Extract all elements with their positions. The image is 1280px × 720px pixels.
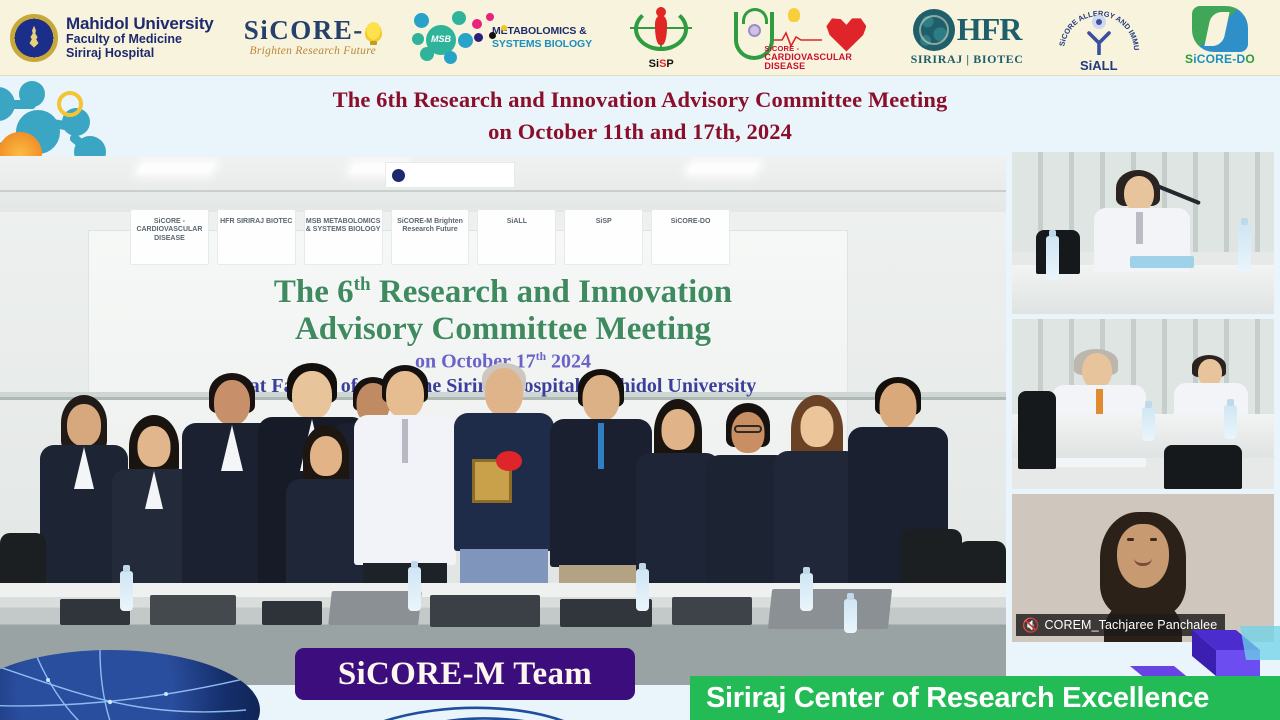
mic-muted-icon: 🔇 bbox=[1022, 618, 1040, 632]
person-figure-icon bbox=[655, 15, 667, 45]
wall-logo-msb: MSB METABOLOMICS & SYSTEMS BIOLOGY bbox=[304, 209, 383, 265]
cell-icon bbox=[1092, 15, 1106, 29]
siall-label: SiALL bbox=[1054, 58, 1144, 73]
lightbulb-icon bbox=[788, 8, 800, 22]
av-equipment bbox=[430, 595, 540, 627]
mahidol-line3: Siriraj Hospital bbox=[66, 47, 214, 61]
water-bottle bbox=[408, 567, 421, 611]
mahidol-seal-icon bbox=[10, 14, 58, 62]
wall-banner-mahidol bbox=[385, 162, 515, 188]
right-photo-column: 🔇 COREM_Tachjaree Panchalee bbox=[1012, 152, 1274, 642]
page-title: The 6th Research and Innovation Advisory… bbox=[0, 76, 1280, 156]
wall-logo-sicoredo: SiCORE-DO bbox=[651, 209, 730, 265]
logo-hfr-siriraj-biotec: HFR SIRIRAJ | BIOTEC bbox=[911, 0, 1024, 75]
sicoredo-label-d: O bbox=[1245, 52, 1255, 66]
logo-siall-allergy-immunology: SiCORE ALLERGY AND IMMUNOLOGY SiALL bbox=[1054, 0, 1144, 75]
av-equipment bbox=[262, 601, 322, 625]
speaker-at-microphone-photo bbox=[1012, 152, 1274, 314]
sicore-do-mark-icon bbox=[1192, 6, 1248, 52]
wall-logo-strip: SiCORE - CARDIOVASCULAR DISEASE HFR SIRI… bbox=[130, 201, 730, 265]
water-bottle bbox=[636, 569, 649, 611]
sicoredo-label-c: CORE-D bbox=[1197, 52, 1246, 66]
sicorem-tagline: Brighten Research Future bbox=[244, 46, 382, 58]
av-equipment bbox=[150, 595, 236, 625]
antibody-icon bbox=[1086, 31, 1112, 55]
sicoredo-label-a: S bbox=[1185, 52, 1193, 66]
wall-logo-cardio: SiCORE - CARDIOVASCULAR DISEASE bbox=[130, 209, 209, 265]
sicorem-wordmark: SiCORE- bbox=[244, 15, 364, 45]
cardio-line2: CARDIOVASCULAR DISEASE bbox=[764, 53, 880, 72]
participant-video-frame bbox=[1100, 512, 1186, 620]
video-call-participant-tile[interactable]: 🔇 COREM_Tachjaree Panchalee bbox=[1012, 494, 1274, 642]
water-bottle bbox=[120, 571, 133, 611]
logo-sicore-cardiovascular: SiCORE - CARDIOVASCULAR DISEASE bbox=[730, 0, 880, 75]
av-equipment bbox=[672, 597, 752, 625]
globe-icon bbox=[913, 9, 955, 51]
senior-doctors-seated-photo bbox=[1012, 319, 1274, 489]
sisp-label-c: P bbox=[666, 58, 673, 70]
hfr-letters: HFR bbox=[957, 15, 1022, 44]
green-banner-label: Siriraj Center of Research Excellence bbox=[706, 682, 1209, 715]
wall-logo-hfr: HFR SIRIRAJ BIOTEC bbox=[217, 209, 296, 265]
water-bottle bbox=[800, 573, 813, 611]
team-badge-label: SiCORE-M Team bbox=[338, 656, 592, 693]
title-line2: on October 11th and 17th, 2024 bbox=[0, 116, 1280, 148]
team-badge: SiCORE-M Team bbox=[295, 648, 635, 700]
mahidol-line1: Mahidol University bbox=[66, 15, 214, 33]
sisp-label-a: Si bbox=[649, 58, 659, 70]
wall-logo-sicorem: SiCORE-M Brighten Research Future bbox=[391, 209, 470, 265]
hfr-subtitle: SIRIRAJ | BIOTEC bbox=[911, 52, 1024, 67]
title-line1: The 6th Research and Innovation Advisory… bbox=[0, 84, 1280, 116]
logo-banner: Mahidol University Faculty of Medicine S… bbox=[0, 0, 1280, 76]
logo-sicore-do: SiCORE-DO bbox=[1174, 0, 1266, 75]
lightbulb-icon bbox=[365, 22, 382, 42]
logo-msb-metabolomics: METABOLOMICS & SYSTEMS BIOLOGY bbox=[412, 0, 592, 75]
laptop bbox=[768, 589, 892, 629]
wall-logo-sisp: SiSP bbox=[564, 209, 643, 265]
group-photo-committee-meeting: SiCORE - CARDIOVASCULAR DISEASE HFR SIRI… bbox=[0, 156, 1006, 685]
mahidol-line2: Faculty of Medicine bbox=[66, 33, 214, 47]
water-bottle bbox=[844, 599, 857, 633]
molecule-icon bbox=[412, 11, 474, 65]
logo-sisp: SiSP bbox=[622, 0, 700, 75]
logo-sicore-m: SiCORE- Brighten Research Future bbox=[244, 0, 382, 75]
siriraj-center-banner: Siriraj Center of Research Excellence bbox=[690, 676, 1280, 720]
logo-mahidol-university: Mahidol University Faculty of Medicine S… bbox=[10, 0, 214, 75]
wall-logo-siall: SiALL bbox=[477, 209, 556, 265]
